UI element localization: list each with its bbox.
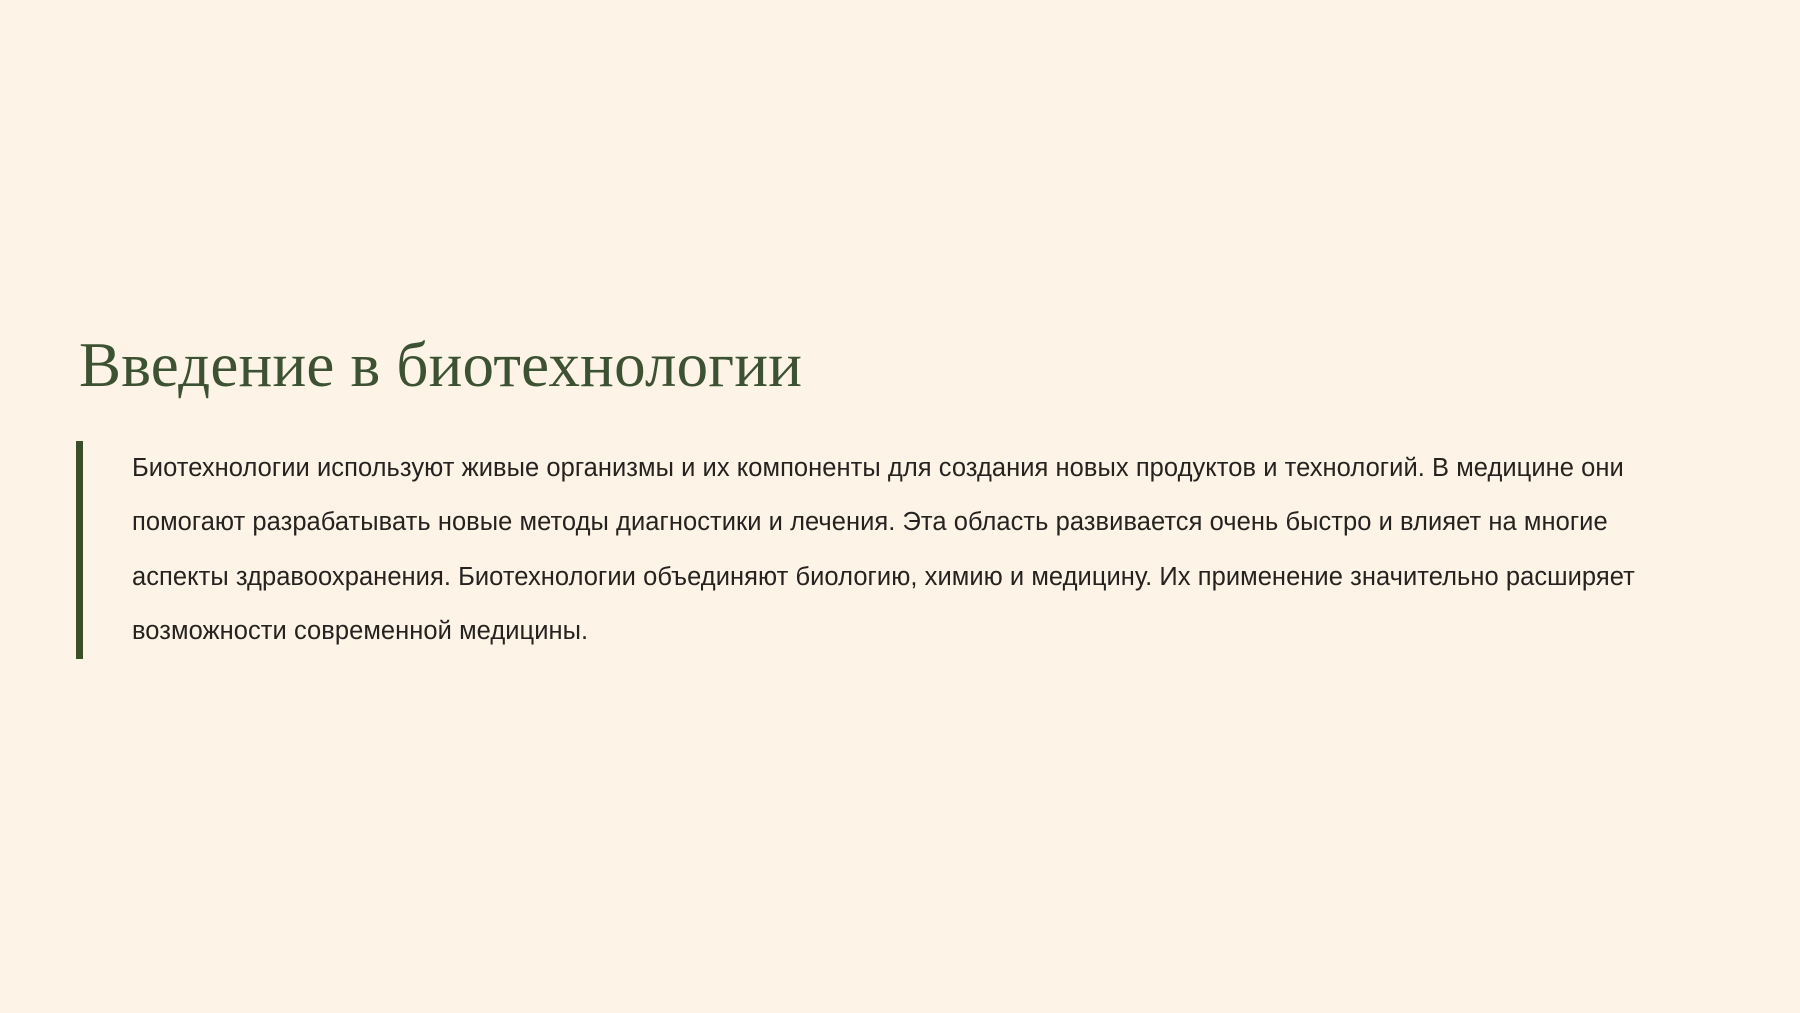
page-title: Введение в биотехнологии — [79, 330, 1716, 401]
slide-canvas: Введение в биотехнологии Биотехнологии и… — [0, 0, 1800, 1013]
body-quote-block: Биотехнологии используют живые организмы… — [76, 441, 1716, 659]
accent-bar — [76, 441, 83, 659]
body-paragraph: Биотехнологии используют живые организмы… — [83, 441, 1707, 659]
slide-content: Введение в биотехнологии Биотехнологии и… — [76, 330, 1716, 659]
